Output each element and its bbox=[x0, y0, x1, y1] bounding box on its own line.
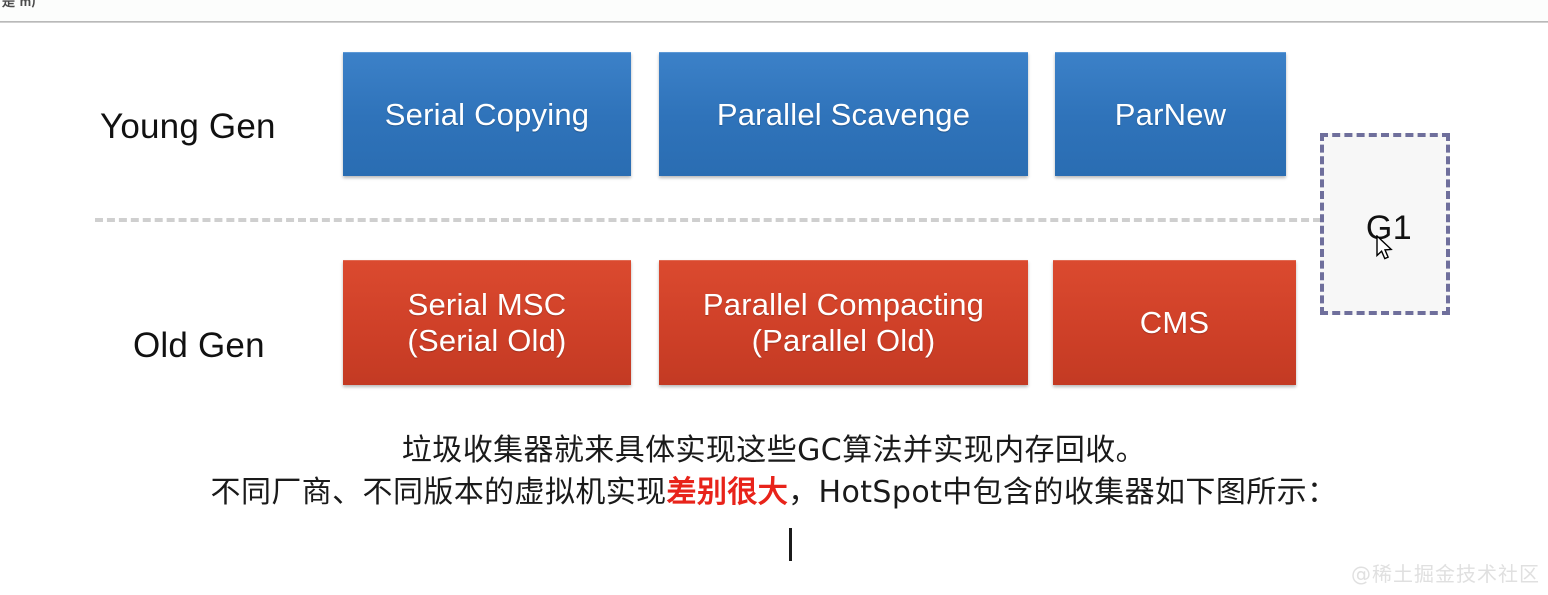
collector-label: Serial MSC (Serial Old) bbox=[407, 287, 566, 359]
old-gen-row-label: Old Gen bbox=[133, 326, 265, 366]
clipped-app-chrome-strip: 是 m广 bbox=[0, 0, 1548, 21]
caption-line-2: 不同厂商、不同版本的虚拟机实现差别很大，HotSpot中包含的收集器如下图所示： bbox=[0, 472, 1548, 514]
caption-line-1: 垃圾收集器就来具体实现这些GC算法并实现内存回收。 bbox=[0, 430, 1548, 472]
collector-label: CMS bbox=[1140, 305, 1210, 341]
collector-label: Parallel Compacting (Parallel Old) bbox=[703, 287, 984, 359]
collector-label: Parallel Scavenge bbox=[717, 97, 970, 133]
collector-label-line1: Parallel Compacting bbox=[703, 287, 984, 322]
generation-divider-dashed-line bbox=[95, 218, 1321, 222]
collector-label: Serial Copying bbox=[385, 97, 589, 133]
collector-label-g1: G1 bbox=[1324, 137, 1454, 319]
caption-emphasis: 差别很大 bbox=[667, 475, 789, 510]
collector-box-serial-msc[interactable]: Serial MSC (Serial Old) bbox=[343, 260, 631, 385]
collector-label: ParNew bbox=[1115, 97, 1226, 133]
collector-box-cms[interactable]: CMS bbox=[1053, 260, 1296, 385]
collector-label-line2: (Parallel Old) bbox=[752, 323, 936, 358]
diagram-canvas: Young Gen Old Gen Serial Copying Paralle… bbox=[0, 23, 1548, 595]
collector-box-parnew[interactable]: ParNew bbox=[1055, 52, 1286, 176]
collector-box-g1-callout[interactable]: G1 bbox=[1320, 133, 1450, 315]
caption-line-2-part-2: ，HotSpot中包含的收集器如下图所示： bbox=[788, 475, 1337, 510]
collector-box-serial-copying[interactable]: Serial Copying bbox=[343, 52, 631, 176]
site-watermark: @稀土掘金技术社区 bbox=[1351, 558, 1540, 587]
collector-label-line2: (Serial Old) bbox=[407, 323, 566, 358]
caption-line-2-part-1: 不同厂商、不同版本的虚拟机实现 bbox=[211, 475, 667, 510]
caption-text-block: 垃圾收集器就来具体实现这些GC算法并实现内存回收。 不同厂商、不同版本的虚拟机实… bbox=[0, 430, 1548, 514]
collector-label-line1: Serial MSC bbox=[408, 287, 567, 322]
collector-box-parallel-compacting[interactable]: Parallel Compacting (Parallel Old) bbox=[659, 260, 1028, 385]
young-gen-row-label: Young Gen bbox=[100, 107, 276, 147]
collector-box-parallel-scavenge[interactable]: Parallel Scavenge bbox=[659, 52, 1028, 176]
clipped-text-fragment: 是 m广 bbox=[2, 0, 45, 10]
text-insertion-caret bbox=[789, 528, 792, 561]
